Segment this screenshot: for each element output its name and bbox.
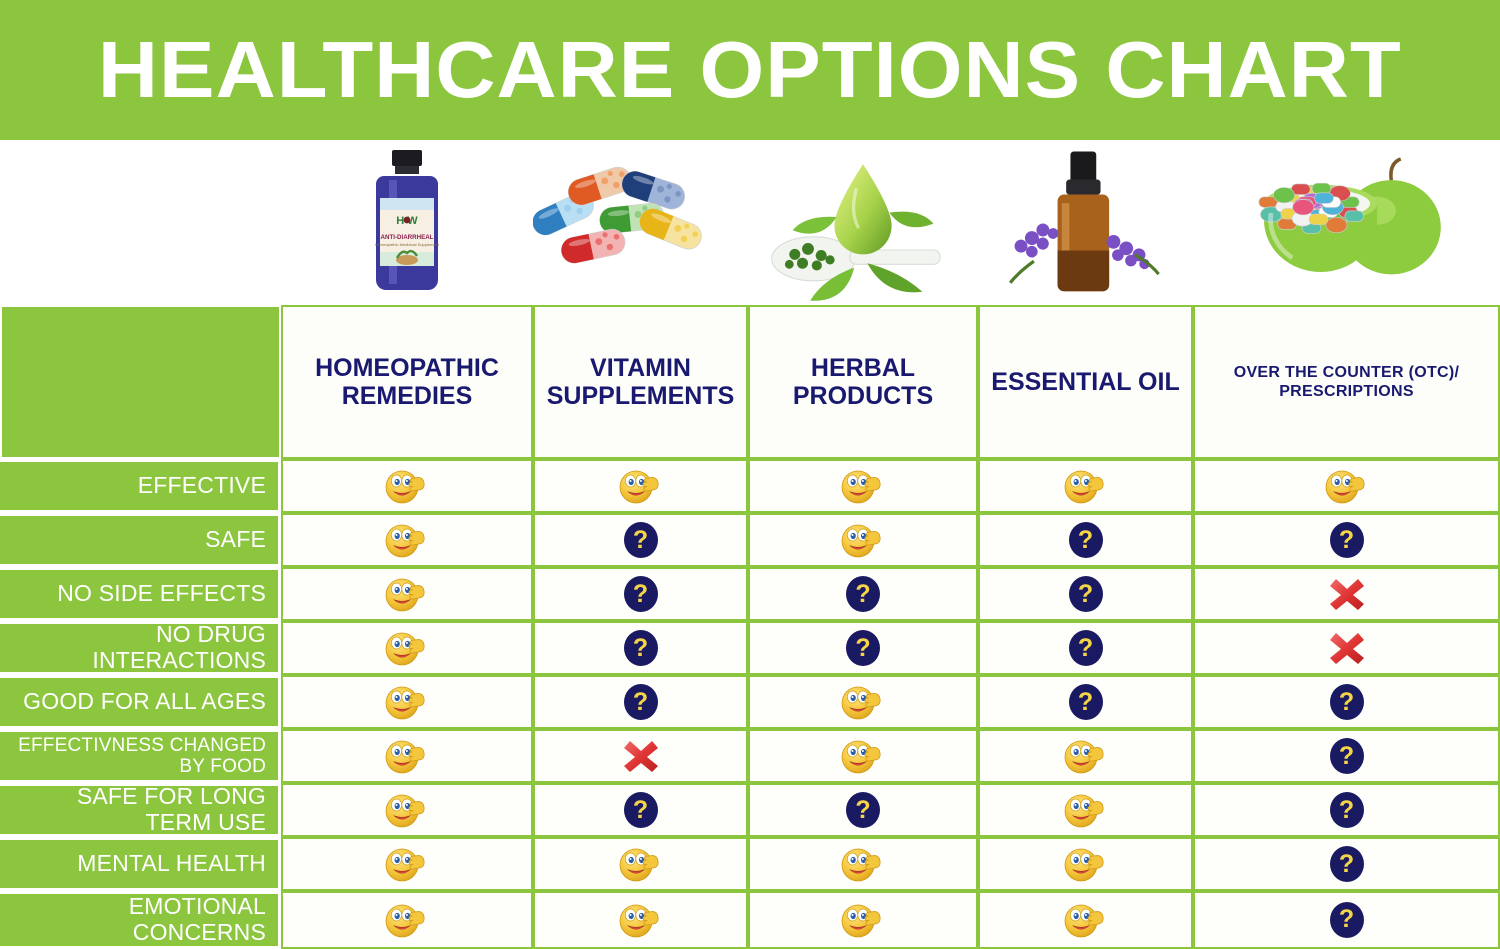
question-mark-badge-icon: ?: [1069, 576, 1103, 612]
homeopathic-remedy-bottle-image: H W ANTI-DIARRHEAL Homeopathic Medicinal…: [281, 140, 533, 305]
cell-r7-c1: [533, 837, 748, 891]
smiley-thumbs-up-icon: [618, 900, 664, 940]
cell-r5-c0: [281, 729, 533, 783]
cell-r1-c3: ?: [978, 513, 1193, 567]
question-mark-badge-icon: ?: [846, 630, 880, 666]
comparison-grid: H W ANTI-DIARRHEAL Homeopathic Medicinal…: [0, 140, 1500, 949]
vitamin-capsules-image: [533, 140, 748, 305]
cell-r5-c2: [748, 729, 978, 783]
image-row-spacer: [0, 140, 281, 305]
cell-r1-c2: [748, 513, 978, 567]
cell-r2-c3: ?: [978, 567, 1193, 621]
smiley-thumbs-up-icon: [1063, 900, 1109, 940]
row-label-0: EFFECTIVE: [0, 459, 281, 513]
red-cross-icon: [1327, 629, 1367, 667]
herbal-leaf-droplet-image: [748, 140, 978, 305]
cell-r7-c2: [748, 837, 978, 891]
cell-r3-c1: ?: [533, 621, 748, 675]
cell-r0-c3: [978, 459, 1193, 513]
title-banner: HEALTHCARE OPTIONS CHART: [0, 0, 1500, 140]
question-mark-badge-icon: ?: [1330, 792, 1364, 828]
smiley-thumbs-up-icon: [618, 466, 664, 506]
cell-r2-c0: [281, 567, 533, 621]
smiley-thumbs-up-icon: [840, 466, 886, 506]
cell-r6-c4: ?: [1193, 783, 1500, 837]
column-header-4: OVER THE COUNTER (OTC)/ PRESCRIPTIONS: [1193, 305, 1500, 459]
smiley-thumbs-up-icon: [384, 682, 430, 722]
smiley-thumbs-up-icon: [384, 790, 430, 830]
question-mark-badge-icon: ?: [624, 684, 658, 720]
smiley-thumbs-up-icon: [384, 628, 430, 668]
smiley-thumbs-up-icon: [384, 466, 430, 506]
smiley-thumbs-up-icon: [1063, 844, 1109, 884]
smiley-thumbs-up-icon: [384, 736, 430, 776]
question-mark-badge-icon: ?: [1330, 738, 1364, 774]
column-header-0: HOMEOPATHIC REMEDIES: [281, 305, 533, 459]
page-title: HEALTHCARE OPTIONS CHART: [98, 30, 1402, 110]
question-mark-badge-icon: ?: [1330, 684, 1364, 720]
cell-r2-c4: [1193, 567, 1500, 621]
smiley-thumbs-up-icon: [840, 844, 886, 884]
smiley-thumbs-up-icon: [840, 900, 886, 940]
smiley-thumbs-up-icon: [840, 682, 886, 722]
cell-r1-c0: [281, 513, 533, 567]
cell-r0-c0: [281, 459, 533, 513]
question-mark-badge-icon: ?: [1069, 522, 1103, 558]
question-mark-badge-icon: ?: [1069, 630, 1103, 666]
cell-r4-c3: ?: [978, 675, 1193, 729]
cell-r2-c2: ?: [748, 567, 978, 621]
cell-r8-c3: [978, 891, 1193, 949]
question-mark-badge-icon: ?: [624, 576, 658, 612]
cell-r0-c1: [533, 459, 748, 513]
row-label-7: MENTAL HEALTH: [0, 837, 281, 891]
pills-in-apple-bowl-image: [1193, 140, 1500, 305]
cell-r8-c2: [748, 891, 978, 949]
row-label-5: EFFECTIVNESS CHANGED BY FOOD: [0, 729, 281, 783]
cell-r0-c2: [748, 459, 978, 513]
smiley-thumbs-up-icon: [384, 574, 430, 614]
cell-r8-c4: ?: [1193, 891, 1500, 949]
svg-text:Homeopathic Medicinal Suppleme: Homeopathic Medicinal Supplement: [375, 242, 440, 247]
row-label-1: SAFE: [0, 513, 281, 567]
healthcare-options-table: H W ANTI-DIARRHEAL Homeopathic Medicinal…: [0, 140, 1500, 879]
smiley-thumbs-up-icon: [1324, 466, 1370, 506]
cell-r2-c1: ?: [533, 567, 748, 621]
column-header-2: HERBAL PRODUCTS: [748, 305, 978, 459]
column-header-1: VITAMIN SUPPLEMENTS: [533, 305, 748, 459]
cell-r4-c4: ?: [1193, 675, 1500, 729]
cell-r3-c3: ?: [978, 621, 1193, 675]
question-mark-badge-icon: ?: [846, 576, 880, 612]
row-label-6: SAFE FOR LONG TERM USE: [0, 783, 281, 837]
smiley-thumbs-up-icon: [384, 520, 430, 560]
smiley-thumbs-up-icon: [840, 520, 886, 560]
svg-text:ANTI-DIARRHEAL: ANTI-DIARRHEAL: [381, 234, 434, 241]
cell-r4-c0: [281, 675, 533, 729]
cell-r7-c4: ?: [1193, 837, 1500, 891]
cell-r3-c2: ?: [748, 621, 978, 675]
red-cross-icon: [621, 737, 661, 775]
question-mark-badge-icon: ?: [1069, 684, 1103, 720]
cell-r5-c3: [978, 729, 1193, 783]
row-label-8: EMOTIONAL CONCERNS: [0, 891, 281, 949]
column-header-3: ESSENTIAL OIL: [978, 305, 1193, 459]
smiley-thumbs-up-icon: [384, 844, 430, 884]
cell-r8-c0: [281, 891, 533, 949]
smiley-thumbs-up-icon: [618, 844, 664, 884]
question-mark-badge-icon: ?: [624, 792, 658, 828]
question-mark-badge-icon: ?: [624, 522, 658, 558]
essential-oil-lavender-bottle-image: [978, 140, 1193, 305]
question-mark-badge-icon: ?: [1330, 846, 1364, 882]
cell-r6-c3: [978, 783, 1193, 837]
smiley-thumbs-up-icon: [384, 900, 430, 940]
question-mark-badge-icon: ?: [846, 792, 880, 828]
cell-r5-c1: [533, 729, 748, 783]
smiley-thumbs-up-icon: [1063, 790, 1109, 830]
red-cross-icon: [1327, 575, 1367, 613]
smiley-thumbs-up-icon: [840, 736, 886, 776]
question-mark-badge-icon: ?: [1330, 902, 1364, 938]
cell-r1-c1: ?: [533, 513, 748, 567]
table-corner-cell: [0, 305, 281, 459]
cell-r6-c2: ?: [748, 783, 978, 837]
cell-r5-c4: ?: [1193, 729, 1500, 783]
cell-r7-c3: [978, 837, 1193, 891]
smiley-thumbs-up-icon: [1063, 736, 1109, 776]
cell-r3-c0: [281, 621, 533, 675]
cell-r3-c4: [1193, 621, 1500, 675]
cell-r4-c1: ?: [533, 675, 748, 729]
cell-r4-c2: [748, 675, 978, 729]
cell-r1-c4: ?: [1193, 513, 1500, 567]
cell-r0-c4: [1193, 459, 1500, 513]
smiley-thumbs-up-icon: [1063, 466, 1109, 506]
question-mark-badge-icon: ?: [624, 630, 658, 666]
row-label-2: NO SIDE EFFECTS: [0, 567, 281, 621]
question-mark-badge-icon: ?: [1330, 522, 1364, 558]
cell-r6-c1: ?: [533, 783, 748, 837]
cell-r6-c0: [281, 783, 533, 837]
row-label-3: NO DRUG INTERACTIONS: [0, 621, 281, 675]
row-label-4: GOOD FOR ALL AGES: [0, 675, 281, 729]
cell-r7-c0: [281, 837, 533, 891]
cell-r8-c1: [533, 891, 748, 949]
